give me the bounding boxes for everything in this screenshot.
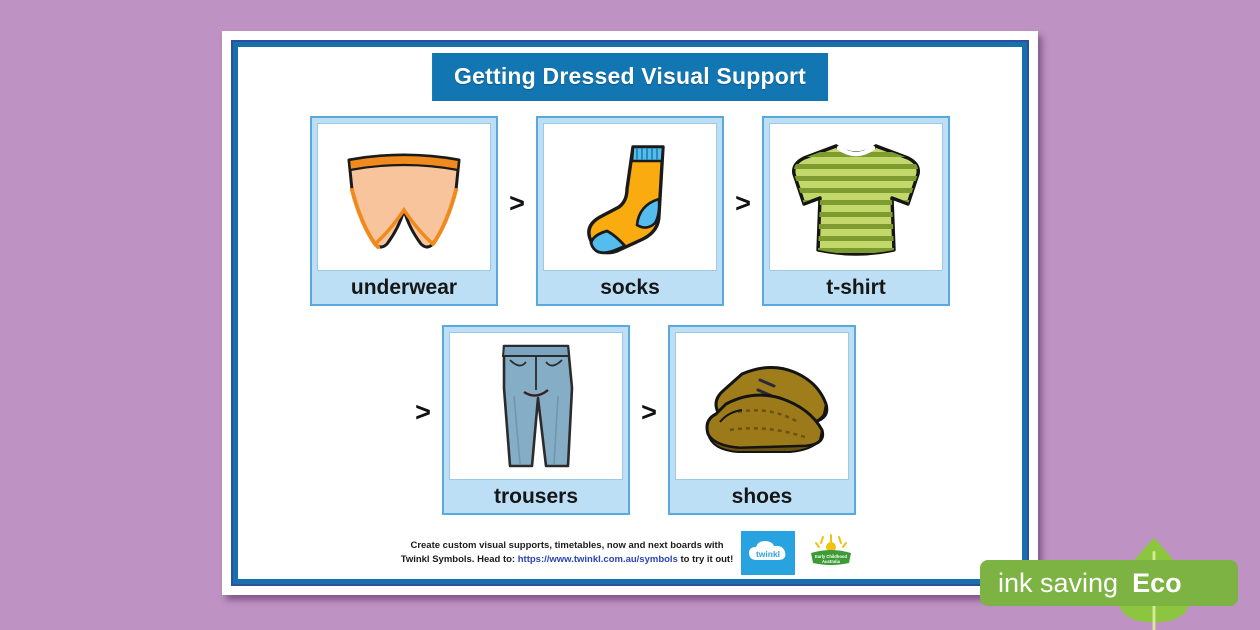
eca-sun-icon: Early Childhood Australia — [805, 533, 857, 573]
card-socks[interactable]: socks — [536, 116, 724, 306]
card-trousers[interactable]: trousers — [442, 325, 630, 515]
socks-image — [543, 123, 717, 271]
svg-text:Australia: Australia — [822, 559, 841, 564]
svg-text:twinkl: twinkl — [756, 549, 780, 559]
early-childhood-australia-logo: Early Childhood Australia — [803, 531, 859, 575]
card-tshirt[interactable]: t-shirt — [762, 116, 950, 306]
card-shoes[interactable]: shoes — [668, 325, 856, 515]
footer-line-1: Create custom visual supports, timetable… — [410, 540, 723, 551]
sequence-row-2: > trousers > — [222, 325, 1038, 515]
card-label: socks — [543, 271, 717, 304]
sequence-row-1: underwear > socks > — [222, 116, 1038, 306]
ink-saving-label: ink saving — [998, 568, 1118, 599]
twinkl-logo: twinkl — [741, 531, 795, 575]
card-label: shoes — [675, 480, 849, 513]
arrow-icon: > — [404, 399, 442, 426]
footer-text: Create custom visual supports, timetable… — [401, 539, 734, 567]
underwear-icon — [329, 132, 479, 262]
tshirt-icon — [780, 130, 932, 265]
card-label: underwear — [317, 271, 491, 304]
arrow-icon: > — [498, 190, 536, 217]
card-label: trousers — [449, 480, 623, 513]
worksheet-page: Getting Dressed Visual Support underwear… — [222, 31, 1038, 595]
footer-line-2-before: Twinkl Symbols. Head to: — [401, 554, 518, 565]
underwear-image — [317, 123, 491, 271]
tshirt-image — [769, 123, 943, 271]
shoes-icon — [686, 346, 838, 466]
eco-label: Eco — [1132, 568, 1182, 599]
footer-line-2-after: to try it out! — [678, 554, 733, 565]
shoes-image — [675, 332, 849, 480]
eco-labels: ink saving Eco — [980, 560, 1260, 606]
card-label: t-shirt — [769, 271, 943, 304]
arrow-icon: > — [630, 399, 668, 426]
sock-icon — [555, 127, 705, 267]
ink-saving-eco-badge: ink saving Eco — [980, 548, 1260, 616]
page-title: Getting Dressed Visual Support — [432, 53, 828, 101]
trousers-image — [449, 332, 623, 480]
card-underwear[interactable]: underwear — [310, 116, 498, 306]
twinkl-symbols-link[interactable]: https://www.twinkl.com.au/symbols — [518, 554, 678, 565]
footer: Create custom visual supports, timetable… — [250, 531, 1010, 575]
arrow-icon: > — [724, 190, 762, 217]
twinkl-cloud-icon: twinkl — [745, 538, 791, 568]
trousers-icon — [476, 336, 596, 476]
